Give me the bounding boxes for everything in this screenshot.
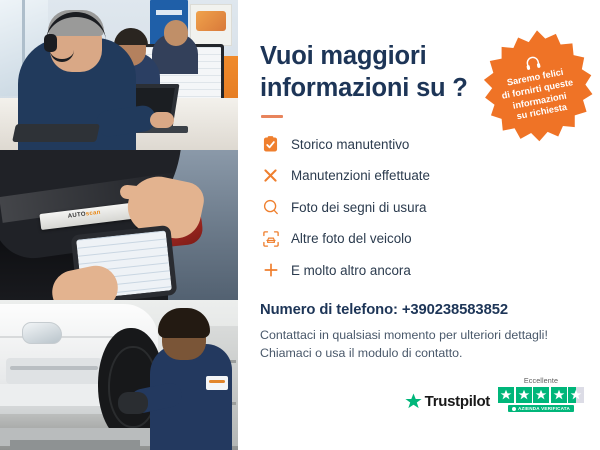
list-item: Manutenzioni effettuate (260, 162, 582, 190)
uniform-logo-patch (206, 376, 228, 390)
car-scan-icon (260, 231, 281, 247)
trustpilot-wordmark: Trustpilot (425, 393, 490, 410)
call-center-agents-photo (0, 0, 238, 150)
photo-column: AUTOscan (0, 0, 238, 450)
vehicle-lift-column (10, 440, 140, 450)
keyboard (12, 124, 100, 142)
star-filled-4 (551, 387, 567, 403)
star-filled-1 (498, 387, 514, 403)
verified-label: AZIENDA VERIFICATA (518, 406, 570, 411)
contact-line-2: Chiamaci o usa il modulo di contatto. (260, 345, 582, 363)
tools-cross-icon (260, 167, 281, 184)
trustpilot-logo: Trustpilot (405, 393, 490, 412)
headline-line-1: Vuoi maggiori (260, 42, 426, 70)
clipboard-check-icon (260, 136, 281, 153)
star-partial-5 (568, 387, 584, 403)
phone-number-line[interactable]: Numero di telefono: +390238583852 (260, 302, 582, 318)
content-panel: Vuoi maggiori informazioni su ? Saremo f… (238, 0, 600, 450)
list-item-label: Altre foto del veicolo (291, 231, 412, 246)
list-item: Altre foto del veicolo (260, 225, 582, 253)
star-filled-3 (533, 387, 549, 403)
wall-poster-white (190, 4, 232, 46)
trustpilot-score-block: Eccellente (498, 376, 584, 412)
list-item: Foto dei segni di usura (260, 193, 582, 221)
list-item-label: Storico manutentivo (291, 137, 409, 152)
headline-line-2: informazioni su ? (260, 74, 468, 102)
feature-list: Storico manutentivo Manutenzioni effettu… (260, 130, 582, 284)
trustpilot-rating[interactable]: Trustpilot Eccellente (405, 376, 584, 412)
agent-1-hand (150, 112, 174, 128)
verified-check-icon (512, 407, 516, 411)
verified-business-badge: AZIENDA VERIFICATA (508, 405, 574, 412)
badge-content: Saremo felici di fornirti queste informa… (468, 18, 600, 156)
agent-2-hair (114, 28, 148, 45)
trustpilot-star-icon (405, 393, 422, 410)
plus-icon (260, 262, 281, 278)
contact-line-1: Contattaci in qualsiasi momento per ulte… (260, 327, 582, 345)
mechanic-glove (118, 392, 148, 414)
agent-3-head (164, 20, 188, 46)
tool-brand-label: AUTOscan (68, 210, 101, 220)
callout-starburst-badge: Saremo felici di fornirti queste informa… (478, 28, 596, 146)
list-item-label: E molto altro ancora (291, 263, 411, 278)
advertisement-banner: AUTOscan Vuoi maggior (0, 0, 600, 450)
headset-icon (522, 54, 542, 72)
trustpilot-stars (498, 387, 584, 403)
car-headlight (22, 322, 62, 344)
magnifier-icon (260, 199, 281, 215)
vehicle-inspection-photo: AUTOscan (0, 150, 238, 300)
mechanic-wheel-photo (0, 300, 238, 450)
trustpilot-rating-label: Eccellente (524, 376, 558, 385)
title-divider-rule (261, 115, 283, 118)
star-filled-2 (516, 387, 532, 403)
list-item-label: Manutenzioni effettuate (291, 168, 430, 183)
contact-text: Contattaci in qualsiasi momento per ulte… (260, 327, 582, 363)
list-item-label: Foto dei segni di usura (291, 200, 426, 215)
list-item: E molto altro ancora (260, 256, 582, 284)
car-grille (6, 358, 102, 384)
